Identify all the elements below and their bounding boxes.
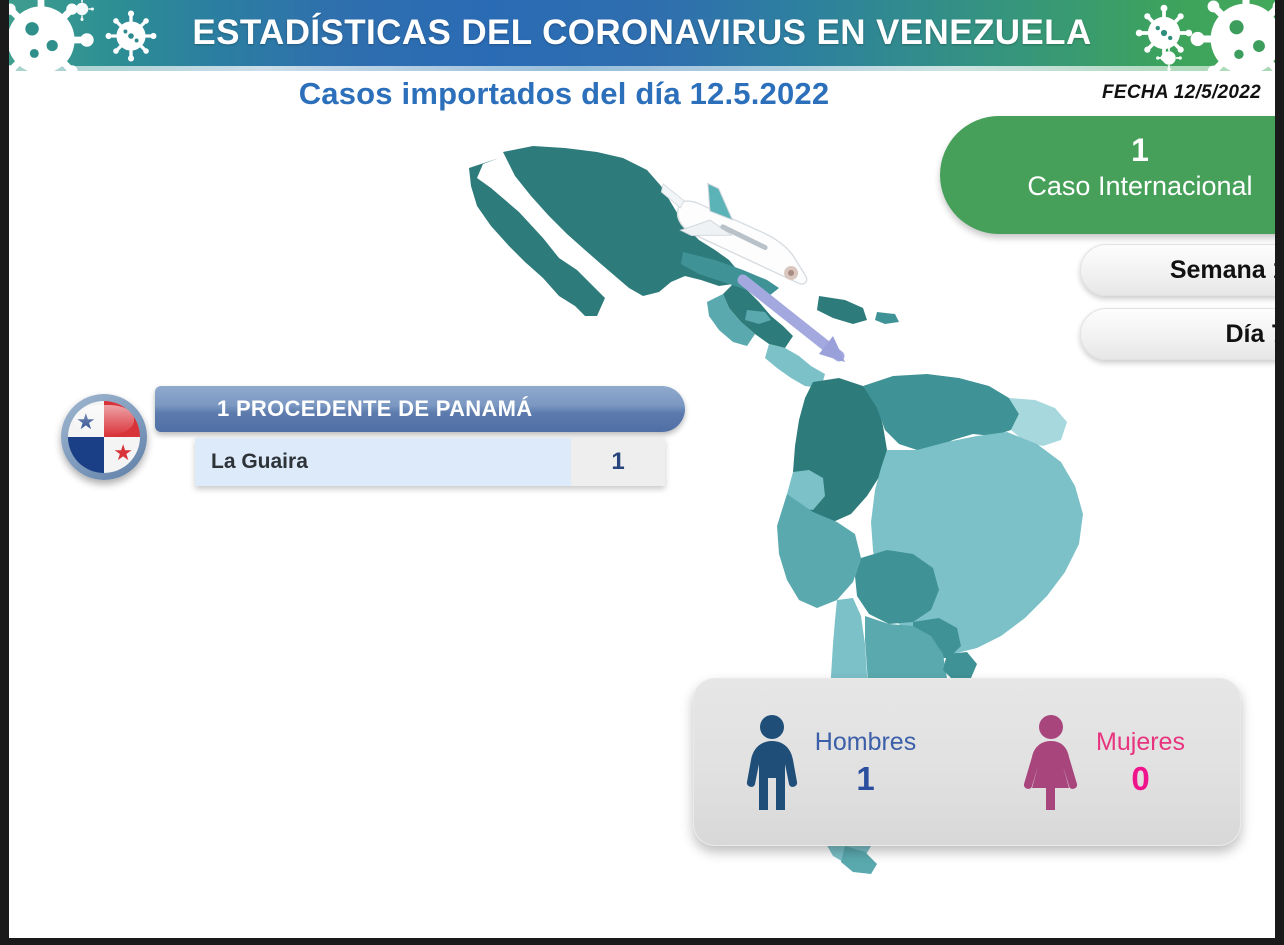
origin-state-value: 1 — [571, 438, 665, 486]
female-count: 0 — [1096, 759, 1185, 799]
panama-flag-icon: ★ ★ — [61, 394, 147, 480]
gender-cell-male: Hombres 1 — [694, 714, 967, 810]
map-country-panama — [765, 344, 825, 388]
male-label: Hombres — [815, 725, 916, 759]
international-cases-pill: 1 Caso Internacional — [940, 116, 1275, 234]
male-figure-icon — [745, 714, 799, 810]
international-cases-count: 1 — [940, 131, 1275, 169]
female-label: Mujeres — [1096, 725, 1185, 759]
origin-state-table: La Guaira 1 — [195, 438, 665, 486]
map-country-uruguay — [943, 652, 977, 680]
day-counter-pill: Día 788 — [1080, 308, 1275, 360]
female-figure-icon — [1022, 714, 1080, 810]
page-subtitle: Casos importados del día 12.5.2022 — [9, 76, 1119, 112]
international-cases-label: Caso Internacional — [940, 169, 1275, 203]
header-banner: ESTADÍSTICAS DEL CORONAVIRUS EN VENEZUEL… — [9, 0, 1275, 71]
map-island-hispaniola — [817, 296, 867, 324]
banner-title: ESTADÍSTICAS DEL CORONAVIRUS EN VENEZUEL… — [9, 0, 1275, 66]
flag-star-blue: ★ — [76, 411, 96, 433]
origin-block: 1 PROCEDENTE DE PANAMÁ ★ ★ La Guaira 1 — [61, 386, 641, 506]
map-island-puerto-rico — [875, 312, 899, 324]
flag-star-red: ★ — [113, 442, 133, 464]
origin-state-name: La Guaira — [195, 438, 571, 486]
banner-underline — [9, 66, 1275, 71]
male-count: 1 — [815, 759, 916, 799]
flag-quadrant-bottom-left — [68, 437, 104, 473]
map-country-patagonia-tail — [841, 846, 877, 874]
week-counter-pill: Semana 113 — [1080, 244, 1275, 296]
gender-panel: Hombres 1 Mujeres 0 — [693, 678, 1241, 846]
infographic-slide: ESTADÍSTICAS DEL CORONAVIRUS EN VENEZUEL… — [9, 0, 1275, 938]
origin-title-bar: 1 PROCEDENTE DE PANAMÁ — [155, 386, 685, 432]
flag-quadrant-top-right — [104, 401, 140, 437]
gender-cell-female: Mujeres 0 — [967, 714, 1240, 810]
date-label: FECHA 12/5/2022 — [1102, 82, 1261, 104]
